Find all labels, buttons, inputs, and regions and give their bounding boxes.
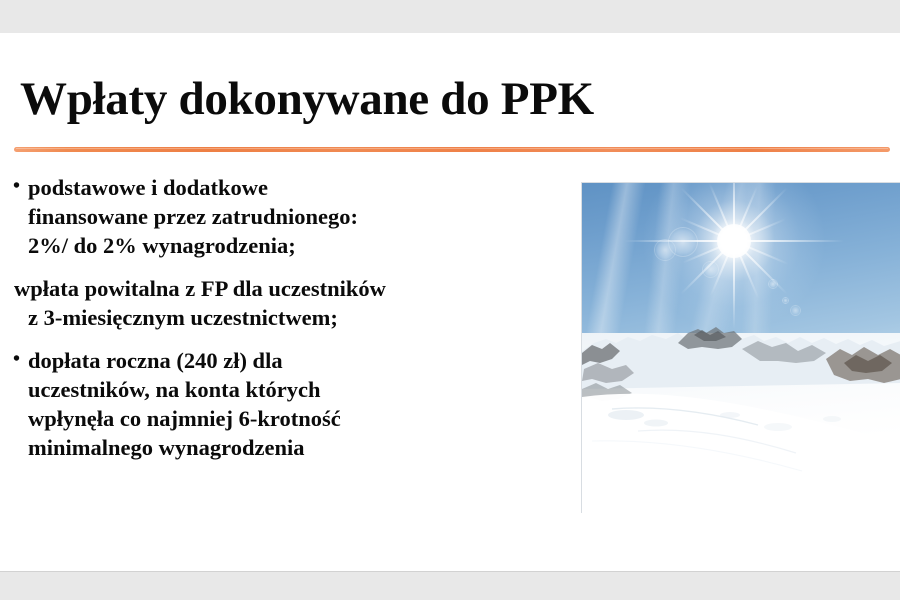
- viewer-top-band: [0, 0, 900, 33]
- slide-body-text: podstawowe i dodatkowe finansowane przez…: [10, 173, 566, 462]
- viewer-bottom-band: [0, 571, 900, 600]
- snowy-mountain-landscape-photo: [581, 182, 900, 513]
- slide-canvas: Wpłaty dokonywane do PPK podstawowe i do…: [0, 33, 900, 571]
- bullet-item-1-line-1: podstawowe i dodatkowe: [28, 173, 566, 202]
- bullet-item-3-line-4: minimalnego wynagrodzenia: [28, 433, 566, 462]
- bullet-item-1: podstawowe i dodatkowe finansowane przez…: [10, 173, 566, 260]
- bullet-item-1-line-2: finansowane przez zatrudnionego:: [28, 202, 566, 231]
- bullet-item-3: dopłata roczna (240 zł) dla uczestników,…: [10, 346, 566, 462]
- bullet-item-3-line-1: dopłata roczna (240 zł) dla: [28, 346, 566, 375]
- bullet-item-3-line-2: uczestników, na konta których: [28, 375, 566, 404]
- bullet-item-1-line-3: 2%/ do 2% wynagrodzenia;: [28, 231, 566, 260]
- slide-viewer: Wpłaty dokonywane do PPK podstawowe i do…: [0, 0, 900, 600]
- paragraph-item-2-line-2: z 3-miesięcznym uczestnictwem;: [14, 303, 566, 332]
- mountain-range-layer: [582, 183, 900, 513]
- paragraph-item-2: wpłata powitalna z FP dla uczestników z …: [10, 274, 566, 332]
- bullet-item-3-line-3: wpłynęła co najmniej 6-krotność: [28, 404, 566, 433]
- title-underline-rule: [14, 147, 890, 152]
- paragraph-item-2-line-1: wpłata powitalna z FP dla uczestników: [14, 274, 566, 303]
- page-title: Wpłaty dokonywane do PPK: [20, 75, 594, 124]
- photo-bottom-fade: [582, 487, 900, 513]
